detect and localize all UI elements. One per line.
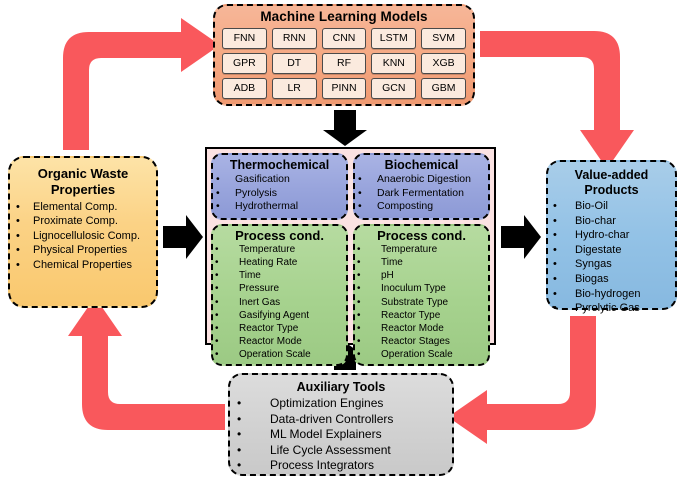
- list-item: Substrate Type: [357, 296, 486, 309]
- thermochemical-column: Thermochemical Gasification Pyrolysis Hy…: [211, 153, 348, 339]
- list-item: Life Cycle Assessment: [237, 443, 445, 459]
- list-item: Time: [357, 256, 486, 269]
- ml-model-tile[interactable]: ADB: [222, 78, 267, 99]
- ml-model-grid: FNN RNN CNN LSTM SVM GPR DT RF KNN XGB A…: [222, 28, 466, 99]
- ml-model-tile[interactable]: KNN: [371, 53, 416, 74]
- ml-model-tile[interactable]: LSTM: [371, 28, 416, 49]
- ml-model-tile[interactable]: GBM: [421, 78, 466, 99]
- thermochemical-box: Thermochemical Gasification Pyrolysis Hy…: [211, 153, 348, 220]
- ml-model-tile[interactable]: RNN: [272, 28, 317, 49]
- waste-item-list: Elemental Comp. Proximate Comp. Lignocel…: [16, 200, 150, 272]
- thermochemical-process-conditions-box: Process cond. Temperature Heating Rate T…: [211, 224, 348, 366]
- red-arrow-ml-to-value: [480, 31, 634, 169]
- list-item: Temperature: [357, 243, 486, 256]
- biochemical-process-conditions-box: Process cond. Temperature Time pH Inocul…: [353, 224, 490, 366]
- list-item: Proximate Comp.: [16, 214, 150, 228]
- list-item: Biogas: [553, 272, 670, 287]
- list-item: Reactor Type: [357, 309, 486, 322]
- ml-model-tile[interactable]: CNN: [322, 28, 367, 49]
- list-item: Pyrolysis: [216, 187, 343, 201]
- list-item: Bio-hydrogen: [553, 287, 670, 302]
- diagram-canvas: Machine Learning Models FNN RNN CNN LSTM…: [0, 0, 685, 481]
- ml-box-title: Machine Learning Models: [222, 9, 466, 25]
- thermochemical-title: Thermochemical: [216, 158, 343, 173]
- ml-model-tile[interactable]: LR: [272, 78, 317, 99]
- machine-learning-models-box: Machine Learning Models FNN RNN CNN LSTM…: [213, 4, 475, 106]
- list-item: Pressure: [215, 282, 344, 295]
- biochemical-box: Biochemical Anaerobic Digestion Dark Fer…: [353, 153, 490, 220]
- list-item: Composting: [358, 200, 485, 214]
- auxiliary-tools-box: Auxiliary Tools Optimization Engines Dat…: [228, 373, 454, 476]
- ml-model-tile[interactable]: XGB: [421, 53, 466, 74]
- black-arrow-ml-down: [323, 110, 367, 146]
- red-arrow-waste-to-ml: [63, 18, 220, 150]
- list-item: Hydro-char: [553, 228, 670, 243]
- ml-model-tile[interactable]: SVM: [421, 28, 466, 49]
- biochemical-item-list: Anaerobic Digestion Dark Fermentation Co…: [358, 173, 485, 214]
- process-cond-title: Process cond.: [215, 228, 344, 243]
- list-item: Reactor Mode: [357, 322, 486, 335]
- process-cond-title: Process cond.: [357, 228, 486, 243]
- aux-item-list: Optimization Engines Data-driven Control…: [237, 396, 445, 474]
- list-item: Bio-Oil: [553, 199, 670, 214]
- list-item: Dark Fermentation: [358, 187, 485, 201]
- list-item: Lignocellulosic Comp.: [16, 229, 150, 243]
- list-item: pH: [357, 269, 486, 282]
- list-item: Physical Properties: [16, 243, 150, 257]
- list-item: Reactor Type: [215, 322, 344, 335]
- list-item: Gasification: [216, 173, 343, 187]
- list-item: Temperature: [215, 243, 344, 256]
- list-item: Gasifying Agent: [215, 309, 344, 322]
- list-item: Optimization Engines: [237, 396, 445, 412]
- list-item: Reactor Mode: [215, 335, 344, 348]
- list-item: ML Model Explainers: [237, 427, 445, 443]
- ml-model-tile[interactable]: GCN: [371, 78, 416, 99]
- conversion-routes-panel: Thermochemical Gasification Pyrolysis Hy…: [205, 147, 496, 345]
- list-item: Syngas: [553, 257, 670, 272]
- list-item: Inoculum Type: [357, 282, 486, 295]
- list-item: Bio-char: [553, 214, 670, 229]
- black-arrow-center-right: [501, 215, 541, 259]
- ml-model-tile[interactable]: RF: [322, 53, 367, 74]
- thermochemical-item-list: Gasification Pyrolysis Hydrothermal: [216, 173, 343, 214]
- value-added-products-box: Value-added Products Bio-Oil Bio-char Hy…: [546, 160, 677, 310]
- list-item: Operation Scale: [215, 348, 344, 361]
- list-item: Hydrothermal: [216, 200, 343, 214]
- list-item: Chemical Properties: [16, 258, 150, 272]
- list-item: Reactor Stages: [357, 335, 486, 348]
- list-item: Data-driven Controllers: [237, 412, 445, 428]
- list-item: Inert Gas: [215, 296, 344, 309]
- list-item: Heating Rate: [215, 256, 344, 269]
- list-item: Elemental Comp.: [16, 200, 150, 214]
- red-arrow-aux-to-waste: [68, 297, 225, 430]
- black-arrow-waste-right: [163, 215, 203, 259]
- list-item: Digestate: [553, 243, 670, 258]
- ml-model-tile[interactable]: FNN: [222, 28, 267, 49]
- biochemical-column: Biochemical Anaerobic Digestion Dark Fer…: [353, 153, 490, 339]
- ml-model-tile[interactable]: DT: [272, 53, 317, 74]
- organic-waste-properties-box: Organic Waste Properties Elemental Comp.…: [8, 156, 158, 308]
- aux-box-title: Auxiliary Tools: [237, 380, 445, 395]
- thermochemical-condition-list: Temperature Heating Rate Time Pressure I…: [215, 243, 344, 362]
- biochemical-condition-list: Temperature Time pH Inoculum Type Substr…: [357, 243, 486, 362]
- list-item: Anaerobic Digestion: [358, 173, 485, 187]
- waste-box-title: Organic Waste Properties: [16, 166, 150, 197]
- value-box-title: Value-added Products: [553, 168, 670, 197]
- list-item: Operation Scale: [357, 348, 486, 361]
- biochemical-title: Biochemical: [358, 158, 485, 173]
- value-item-list: Bio-Oil Bio-char Hydro-char Digestate Sy…: [553, 199, 670, 316]
- ml-model-tile[interactable]: GPR: [222, 53, 267, 74]
- list-item: Pyrolytic Gas: [553, 301, 670, 316]
- list-item: Process Integrators: [237, 458, 445, 474]
- ml-model-tile[interactable]: PINN: [322, 78, 367, 99]
- list-item: Time: [215, 269, 344, 282]
